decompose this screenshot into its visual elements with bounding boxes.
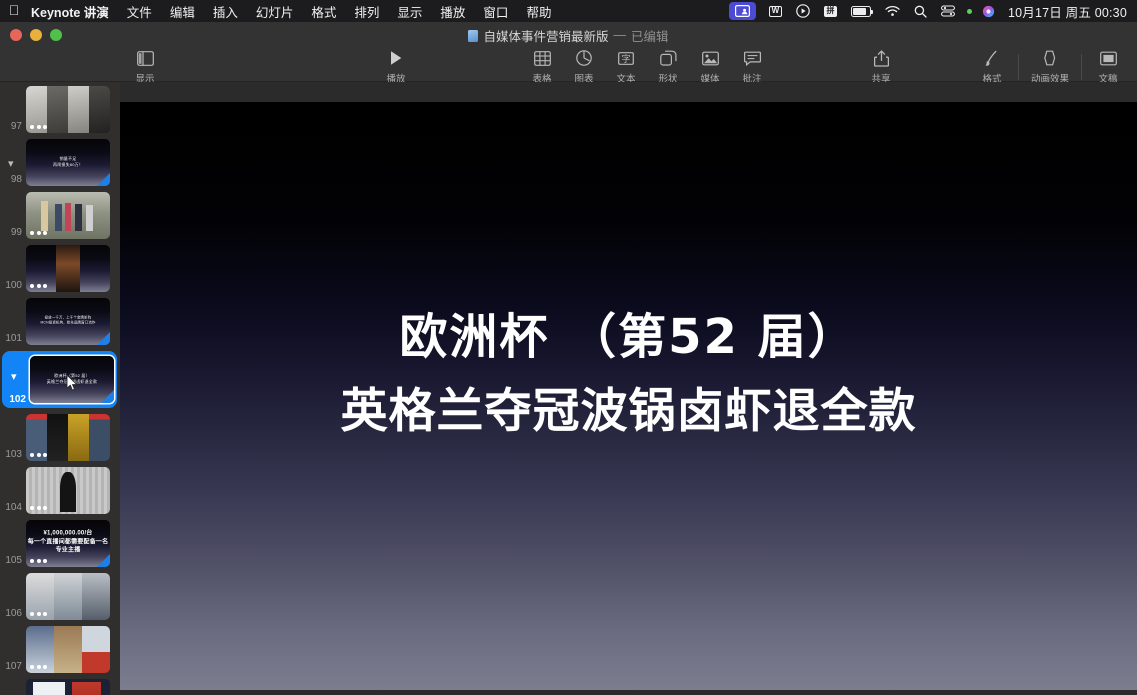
slide-navigator[interactable]: 97 ▾ 98 销量不足 再闹损失80万！ 99 [0, 82, 120, 695]
menu-item-view[interactable]: 显示 [388, 0, 431, 22]
toolbar-divider-2 [1081, 54, 1082, 80]
shape-icon [660, 48, 677, 68]
slide-canvas-area[interactable]: 欧洲杯 （第52 届） 英格兰夺冠波锅卤虾退全款 [120, 82, 1137, 695]
slide-number: 97 [0, 121, 26, 133]
slide-thumbnail-104[interactable]: 104 [0, 467, 120, 514]
format-brush-icon [984, 48, 1000, 68]
menu-item-play[interactable]: 播放 [431, 0, 474, 22]
slide-preview[interactable] [26, 467, 110, 514]
slide-thumbnail-99[interactable]: 99 [0, 192, 120, 239]
current-slide[interactable]: 欧洲杯 （第52 届） 英格兰夺冠波锅卤虾退全款 [120, 102, 1137, 690]
toolbar-group-play: 播放 [375, 48, 417, 85]
thumbnail-text: 欧洲杯（第52 届） 英格兰夺冠波锅卤虾退全款 [30, 373, 114, 385]
chart-icon [576, 48, 592, 68]
menu-item-help[interactable]: 帮助 [517, 0, 560, 22]
slide-preview[interactable]: 销量不足 再闹损失80万！ [26, 139, 110, 186]
slide-thumbnail-103[interactable]: 103 [0, 414, 120, 461]
animate-icon [1041, 48, 1060, 68]
slide-thumbnail-98[interactable]: ▾ 98 销量不足 再闹损失80万！ [0, 139, 120, 186]
slide-thumbnail-106[interactable]: 106 [0, 573, 120, 620]
slide-text-block[interactable]: 欧洲杯 （第52 届） 英格兰夺冠波锅卤虾退全款 [120, 310, 1137, 442]
document-button[interactable]: 文稿 [1087, 48, 1129, 85]
play-circle-icon[interactable] [789, 0, 817, 22]
siri-icon[interactable] [975, 0, 1002, 22]
build-order-dots [30, 284, 47, 288]
menu-item-arrange[interactable]: 排列 [345, 0, 388, 22]
thumbnail-text: 销量不足 再闹损失80万！ [26, 156, 110, 168]
build-order-dots [30, 453, 47, 457]
screen-share-icon[interactable] [729, 2, 756, 20]
slide-thumbnail-108[interactable]: 108 [0, 679, 120, 695]
insert-media-button[interactable]: 媒体 [689, 48, 731, 85]
slide-preview[interactable] [26, 86, 110, 133]
insert-text-button[interactable]: 字 文本 [605, 48, 647, 85]
table-icon [534, 48, 551, 68]
build-order-dots [30, 231, 47, 235]
format-button[interactable]: 格式 [971, 48, 1013, 85]
slide-preview[interactable]: 欧洲杯（第52 届） 英格兰夺冠波锅卤虾退全款 [30, 356, 114, 403]
slide-title-line-1: 欧洲杯 （第52 届） [120, 310, 1137, 365]
slide-thumbnail-97[interactable]: 97 [0, 86, 120, 133]
toolbar-divider-1 [1018, 54, 1019, 80]
slide-title-line-2: 英格兰夺冠波锅卤虾退全款 [120, 383, 1137, 442]
document-title-bar: 自媒体事件营销最新版 — 已编辑 [0, 27, 1137, 43]
slide-number: 106 [0, 608, 26, 620]
menu-bar-status-area: W 拼 10月17日 周五 00:30 [729, 0, 1137, 22]
slide-preview[interactable] [26, 245, 110, 292]
slide-number: 105 [0, 555, 26, 567]
chevron-down-icon[interactable]: ▾ [11, 372, 17, 383]
slide-thumbnail-107[interactable]: 107 [0, 626, 120, 673]
slide-preview[interactable] [26, 192, 110, 239]
slide-thumbnail-101[interactable]: 101 投放一千万，上千个金牌矩阵 MCN投资机构，抢先品牌窗口流作 [0, 298, 120, 345]
apple-menu-icon[interactable]:  [0, 3, 28, 19]
slide-preview[interactable]: ¥1,000,000.00/台 每一个直播间都需要配备一名专业主播 [26, 520, 110, 567]
transition-marker [97, 332, 110, 345]
slide-number: 102 [4, 394, 30, 405]
app-toolbar: 自媒体事件营销最新版 — 已编辑 显示 播放 [0, 22, 1137, 82]
build-order-dots [30, 125, 47, 129]
search-icon[interactable] [907, 0, 934, 22]
insert-chart-button[interactable]: 图表 [563, 48, 605, 85]
comment-icon [744, 48, 761, 68]
menu-bar:  Keynote 讲演 文件 编辑 插入 幻灯片 格式 排列 显示 播放 窗口… [0, 0, 1137, 22]
toolbar-group-inspector: 格式 动画效果 文稿 [971, 48, 1129, 85]
transition-marker [101, 390, 114, 403]
view-button[interactable]: 显示 [124, 48, 166, 85]
wifi-icon[interactable] [878, 0, 907, 22]
animate-button[interactable]: 动画效果 [1024, 48, 1076, 85]
input-method-icon[interactable]: 拼 [817, 0, 844, 22]
share-button[interactable]: 共享 [860, 48, 902, 85]
word-icon[interactable]: W [762, 0, 789, 22]
insert-comment-button[interactable]: 批注 [731, 48, 773, 85]
toolbar-group-view: 显示 [124, 48, 166, 85]
slide-number: 101 [0, 333, 26, 345]
slide-thumbnail-100[interactable]: 100 [0, 245, 120, 292]
build-order-dots [30, 612, 47, 616]
media-icon [702, 48, 719, 68]
slide-thumbnail-102-selected[interactable]: ▾ 102 欧洲杯（第52 届） 英格兰夺冠波锅卤虾退全款 [2, 351, 117, 408]
control-center-icon[interactable] [934, 0, 962, 22]
slide-preview[interactable] [26, 679, 110, 695]
build-order-dots [30, 665, 47, 669]
play-icon [389, 48, 403, 68]
slide-number: 104 [0, 502, 26, 514]
battery-charging-icon[interactable] [844, 0, 878, 22]
chevron-down-icon[interactable]: ▾ [8, 159, 14, 170]
toolbar-group-share: 共享 [860, 48, 902, 85]
slide-number: 103 [0, 449, 26, 461]
document-edited-status: 已编辑 [631, 26, 669, 45]
document-file-icon [468, 30, 478, 42]
insert-table-button[interactable]: 表格 [521, 48, 563, 85]
slide-preview[interactable] [26, 573, 110, 620]
slide-thumbnail-105[interactable]: 105 ¥1,000,000.00/台 每一个直播间都需要配备一名专业主播 [0, 520, 120, 567]
view-panel-icon [137, 48, 154, 68]
menu-item-format[interactable]: 格式 [302, 0, 345, 22]
slide-number: 99 [0, 227, 26, 239]
slide-number: 98 [0, 174, 26, 186]
menu-item-insert[interactable]: 插入 [204, 0, 247, 22]
svg-text:字: 字 [621, 53, 630, 65]
insert-shape-button[interactable]: 形状 [647, 48, 689, 85]
slide-preview[interactable] [26, 626, 110, 673]
notification-dot-icon [962, 0, 975, 22]
slide-preview[interactable]: 投放一千万，上千个金牌矩阵 MCN投资机构，抢先品牌窗口流作 [26, 298, 110, 345]
play-button[interactable]: 播放 [375, 48, 417, 85]
menu-item-file[interactable]: 文件 [118, 0, 161, 22]
menu-item-slide[interactable]: 幻灯片 [247, 0, 303, 22]
slide-number: 100 [0, 280, 26, 292]
document-icon [1100, 48, 1117, 68]
transition-marker [97, 173, 110, 186]
menu-app-name[interactable]: Keynote 讲演 [28, 0, 118, 22]
title-separator: — [614, 28, 627, 42]
slide-number: 107 [0, 661, 26, 673]
thumbnail-text: 投放一千万，上千个金牌矩阵 MCN投资机构，抢先品牌窗口流作 [26, 315, 110, 325]
keynote-window: 自媒体事件营销最新版 — 已编辑 显示 播放 [0, 22, 1137, 695]
share-icon [874, 48, 889, 68]
text-icon: 字 [618, 48, 634, 68]
menu-item-window[interactable]: 窗口 [474, 0, 517, 22]
transition-marker [97, 554, 110, 567]
build-order-dots [30, 559, 47, 563]
document-title-text[interactable]: 自媒体事件营销最新版 [483, 26, 608, 45]
toolbar-group-insert: 表格 图表 字 文本 形状 [521, 48, 773, 85]
menu-bar-clock[interactable]: 10月17日 周五 00:30 [1002, 0, 1129, 22]
thumbnail-text: ¥1,000,000.00/台 每一个直播间都需要配备一名专业主播 [26, 529, 110, 555]
slide-preview[interactable] [26, 414, 110, 461]
build-order-dots [30, 506, 47, 510]
menu-item-edit[interactable]: 编辑 [161, 0, 204, 22]
